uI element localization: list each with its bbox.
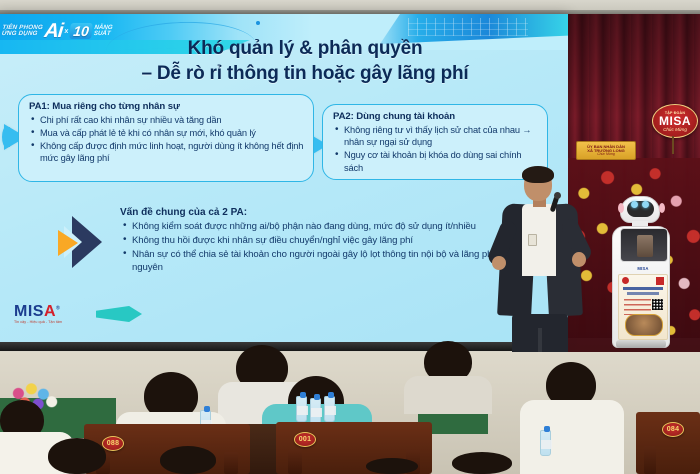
common-issues-list: Không kiểm soát được những ai/bộ phận nà… xyxy=(120,220,540,274)
robot-ear-left xyxy=(618,203,624,213)
robot-base xyxy=(616,340,666,348)
ai-wordmark: Ai xyxy=(43,20,63,43)
service-robot-kiosk: MISA xyxy=(604,196,678,348)
robot-touchscreen[interactable] xyxy=(620,228,668,262)
poster-flag-icon xyxy=(656,277,664,285)
pa1-bullet: Không cấp được định mức linh hoạt, người… xyxy=(29,140,305,165)
misa-tagline: Tin cậy - Hiệu quả - Tận tâm xyxy=(14,321,62,325)
robot-poster xyxy=(618,274,668,340)
common-issues-section: Vấn đề chung của cả 2 PA: Không kiểm soá… xyxy=(120,207,540,275)
audience-member-body xyxy=(520,400,624,474)
wreath-ribbon-line-3: Chúc Mừng xyxy=(597,153,615,157)
common-issue-item: Không kiểm soát được những ai/bộ phận nà… xyxy=(120,220,540,233)
audience-member-head xyxy=(366,458,418,474)
microphone-head xyxy=(554,192,561,199)
pa2-bullet-list: Không riêng tư vì thấy lịch sử chat của … xyxy=(333,124,539,174)
banner-line-2: ỨNG DỤNG xyxy=(1,31,42,37)
pa1-bullet: Chi phí rất cao khi nhân sự nhiều và tăn… xyxy=(29,114,305,126)
slide-footer-accent-shape xyxy=(96,306,142,322)
misa-letters-mi: MI xyxy=(14,303,33,320)
chair-number-badge: 084 xyxy=(662,422,684,437)
misa-wordmark: MISA® xyxy=(14,304,62,320)
robot-screen-content xyxy=(637,235,653,257)
slide-title-line-2: – Dễ rò rỉ thông tin hoặc gây lãng phí xyxy=(70,61,540,86)
projected-slide: TIÊN PHONG ỨNG DỤNG Ai x 10 NĂNG SUẤT Kh… xyxy=(0,14,568,342)
chair-slat xyxy=(644,446,656,474)
slide-title-line-1: Khó quản lý & phân quyền xyxy=(188,38,423,59)
common-issue-item: Nhân sự có thể chia sẻ tài khoản cho ngư… xyxy=(120,248,540,274)
pa2-bullet: Không riêng tư vì thấy lịch sử chat của … xyxy=(333,124,539,149)
water-bottle xyxy=(324,396,335,422)
conference-room-scene: TIÊN PHONG ỨNG DỤNG Ai x 10 NĂNG SUẤT Kh… xyxy=(0,0,700,474)
misa-letter-a: A xyxy=(44,303,56,320)
misa-congratulation-sign: TẬP ĐOÀN MISA Chúc Mừng xyxy=(652,104,698,138)
chair-number-badge: 088 xyxy=(102,436,124,451)
audience-member-head xyxy=(160,446,216,474)
pa1-bullet: Mua và cấp phát lẻ tẻ khi có nhân sự mới… xyxy=(29,127,305,139)
poster-text-lines xyxy=(624,299,651,315)
registered-mark-icon: ® xyxy=(56,306,60,312)
audience-member-head xyxy=(452,452,512,474)
play-triangle-icon xyxy=(58,230,78,256)
water-bottle xyxy=(540,430,551,456)
speaker-hand-right xyxy=(572,252,586,267)
wreath-ribbon-sign: ỦY BAN NHÂN DÂN XÃ TRƯỜNG LONG Chúc Mừng xyxy=(576,141,636,160)
chair-number-badge: 001 xyxy=(294,432,316,447)
common-issues-heading: Vấn đề chung của cả 2 PA: xyxy=(120,207,540,218)
misa-sign-brand-text: MISA xyxy=(659,115,691,127)
misa-sign-bottom-text: Chúc Mừng xyxy=(663,127,687,132)
circuit-pattern-decoration xyxy=(408,18,528,36)
chair-slat xyxy=(224,452,238,474)
common-issue-item: Không thu hồi được khi nhân sự điều chuy… xyxy=(120,234,540,247)
robot-eye-right-icon xyxy=(642,201,649,208)
pa1-bullet-list: Chi phí rất cao khi nhân sự nhiều và tăn… xyxy=(29,114,305,164)
misa-logo: MISA® Tin cậy - Hiệu quả - Tận tâm xyxy=(14,304,62,325)
presenter-speaker xyxy=(492,168,600,380)
audience-member-head xyxy=(48,438,106,474)
chevron-play-icon xyxy=(58,214,116,270)
poster-star-icon xyxy=(622,277,629,284)
banner-endpoint-dot xyxy=(256,21,260,25)
poster-photo xyxy=(625,314,663,336)
water-bottle xyxy=(310,398,321,424)
option-pa1-card: PA1: Mua riêng cho từng nhân sự Chi phí … xyxy=(18,94,314,182)
pa1-heading: PA1: Mua riêng cho từng nhân sự xyxy=(29,101,305,112)
speaker-hair xyxy=(522,166,554,183)
pa2-heading: PA2: Dùng chung tài khoản xyxy=(333,111,539,122)
robot-eye-left-icon xyxy=(631,201,638,208)
multiplier-x: x xyxy=(64,28,69,35)
speaker-hand-left xyxy=(492,256,506,270)
banner-tagline: TIÊN PHONG ỨNG DỤNG xyxy=(1,25,43,37)
robot-ear-right xyxy=(659,203,665,213)
slide-title: Khó quản lý & phân quyền – Dễ rò rỉ thôn… xyxy=(70,36,540,86)
audience-member-body xyxy=(404,376,492,414)
robot-brand-label: MISA xyxy=(626,265,660,271)
chair-slat xyxy=(288,450,302,474)
projector-screen-bottom-frame xyxy=(0,342,568,351)
poster-title-bar xyxy=(623,287,663,290)
qr-code-icon xyxy=(652,299,663,310)
water-bottle xyxy=(296,396,307,422)
poster-subtitle-bar xyxy=(627,292,659,295)
speaker-name-badge xyxy=(528,234,537,246)
sign-stick xyxy=(672,136,674,154)
misa-letter-s: S xyxy=(33,303,44,320)
